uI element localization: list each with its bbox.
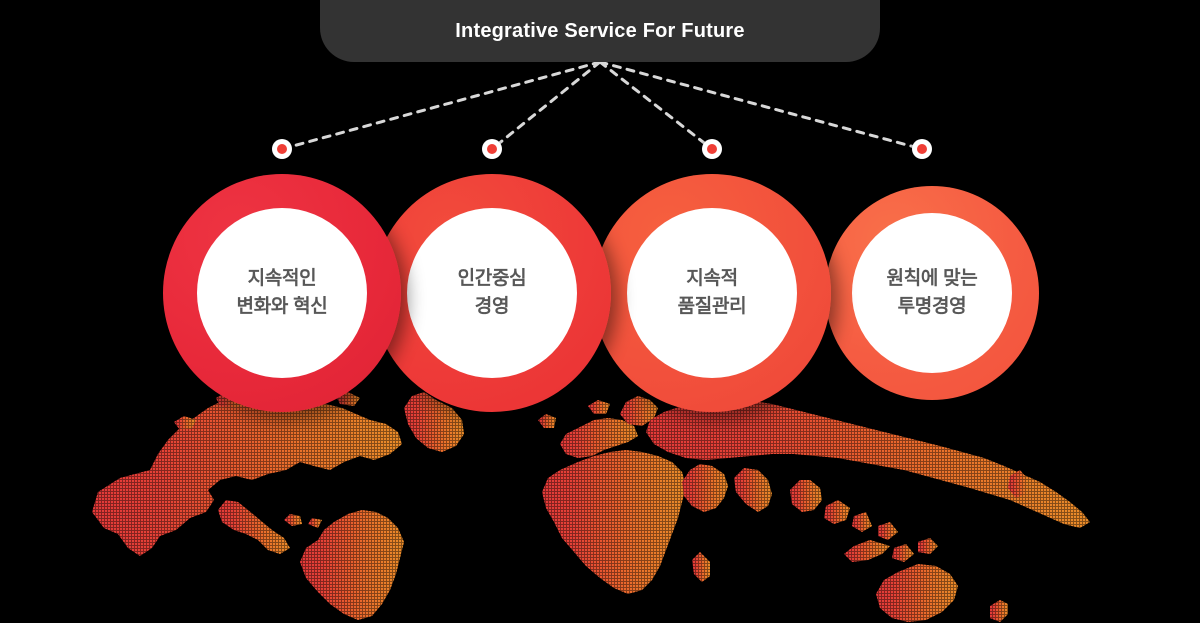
value-circle-label-3: 지속적 품질관리 <box>678 265 747 320</box>
infographic-canvas: 원칙에 맞는 투명경영 지속적 품질관리 인간중심 경영 지속적인 변화와 혁신… <box>0 0 1200 623</box>
connector-line-1 <box>282 62 600 149</box>
value-circle-continuous-quality-control[interactable]: 지속적 품질관리 <box>593 174 831 412</box>
banner-title-text: Integrative Service For Future <box>455 20 744 43</box>
value-circle-continuous-change[interactable]: 지속적인 변화와 혁신 <box>163 174 401 412</box>
connector-node-dot-4[interactable] <box>912 139 932 159</box>
value-circle-label-4: 원칙에 맞는 투명경영 <box>887 265 978 320</box>
world-map-landmasses <box>92 382 1090 622</box>
value-circle-inner-1: 지속적인 변화와 혁신 <box>197 208 367 378</box>
value-circle-inner-3: 지속적 품질관리 <box>627 208 797 378</box>
value-circle-transparent-management[interactable]: 원칙에 맞는 투명경영 <box>825 186 1039 400</box>
connector-node-dot-3[interactable] <box>702 139 722 159</box>
title-banner: Integrative Service For Future <box>320 0 880 62</box>
value-circle-label-1: 지속적인 변화와 혁신 <box>237 265 328 320</box>
value-circle-inner-2: 인간중심 경영 <box>407 208 577 378</box>
connector-node-core-4 <box>917 144 927 154</box>
value-circle-human-centered-management[interactable]: 인간중심 경영 <box>373 174 611 412</box>
connector-node-dot-1[interactable] <box>272 139 292 159</box>
connector-node-core-2 <box>487 144 497 154</box>
connector-node-dot-2[interactable] <box>482 139 502 159</box>
world-map-underlay <box>92 382 1090 622</box>
connector-node-core-1 <box>277 144 287 154</box>
value-circle-inner-4: 원칙에 맞는 투명경영 <box>852 213 1012 373</box>
connector-line-4 <box>600 62 922 149</box>
value-circle-label-2: 인간중심 경영 <box>458 265 527 320</box>
connector-line-2 <box>492 62 600 149</box>
connector-line-3 <box>600 62 712 149</box>
connector-node-core-3 <box>707 144 717 154</box>
